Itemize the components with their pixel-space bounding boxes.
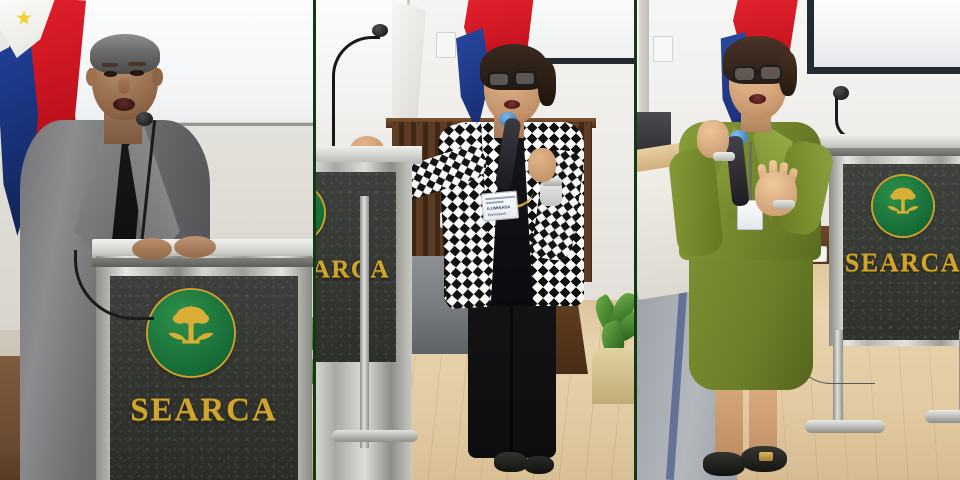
speaker-eye-left <box>104 71 117 77</box>
eyeglasses-lens-right <box>759 65 782 81</box>
searca-wordmark-cropped: ARCA <box>316 256 396 284</box>
eyeglasses-lens-right <box>514 71 536 86</box>
panel-1-male-speaker: SEARCA <box>0 0 313 480</box>
speaker-ear-right <box>152 68 163 86</box>
badge-role-text: Participant <box>488 212 507 218</box>
speaker-hand-right <box>174 236 216 258</box>
speaker-skirt <box>689 240 813 390</box>
speaker-shoe-left <box>703 452 745 476</box>
speaker-shoe-left <box>494 452 528 472</box>
panel-2-female-speaker-houndstooth: ILUMINADA Participant <box>316 0 634 480</box>
searca-wordmark: SEARCA <box>110 392 298 429</box>
microphone-icon <box>136 112 153 126</box>
speaker-shoe-right <box>524 456 554 474</box>
lectern-front-panel: SEARCA <box>843 164 960 340</box>
speaker-hair <box>90 34 160 74</box>
badge-line <box>486 201 504 205</box>
searca-tree-emblem-icon <box>884 186 921 217</box>
speaker-mouth <box>113 98 135 111</box>
eyeglasses-bridge <box>755 70 761 73</box>
planter-fabric-wrap <box>592 348 634 404</box>
lectern-foot-bar <box>332 430 418 442</box>
panel-3-female-speaker-green-suit: SEARCA <box>637 0 960 480</box>
eyeglasses-lens-left <box>488 72 510 87</box>
wall-divider <box>639 0 649 124</box>
speaker-hand-right <box>528 148 556 182</box>
microphone-icon <box>372 24 388 37</box>
searca-tree-emblem-icon <box>164 304 217 349</box>
eyeglasses-bridge <box>509 76 516 79</box>
badge-line <box>485 196 515 201</box>
lectern-foot-left <box>805 420 885 433</box>
searca-tree-logo <box>316 184 324 242</box>
microphone-stem <box>332 36 380 148</box>
speaker-eyebrow-right <box>128 62 146 66</box>
wall-outlet <box>653 36 673 62</box>
wall-outlet <box>436 32 456 58</box>
eyeglasses-lens-left <box>733 66 756 82</box>
speaker-mouth <box>504 100 520 109</box>
shoe-buckle <box>759 452 773 461</box>
lectern-front-panel: ARCA <box>316 172 396 362</box>
photo-collage: SEARCA <box>0 0 960 480</box>
lectern-post <box>360 196 369 448</box>
speaker-eye-right <box>130 70 144 76</box>
speaker-ear-left <box>86 68 97 86</box>
pearl-bracelet <box>713 152 735 161</box>
wristwatch <box>773 200 795 209</box>
trouser-seam <box>510 300 513 458</box>
badge-name-text: ILUMINADA <box>487 204 511 211</box>
speaker-mouth <box>749 94 766 104</box>
searca-tree-logo <box>873 176 933 236</box>
name-badge: ILUMINADA Participant <box>481 190 519 221</box>
speaker-eyebrow-left <box>102 63 118 67</box>
speaker-hand-right <box>755 172 797 216</box>
speaker-hair-side <box>538 62 556 106</box>
badge-lanyard <box>749 142 752 204</box>
searca-tree-logo <box>148 290 234 376</box>
projection-screen <box>807 0 960 74</box>
searca-wordmark: SEARCA <box>843 248 960 278</box>
speaker-nose <box>118 78 130 94</box>
lectern-foot-right <box>925 410 960 423</box>
